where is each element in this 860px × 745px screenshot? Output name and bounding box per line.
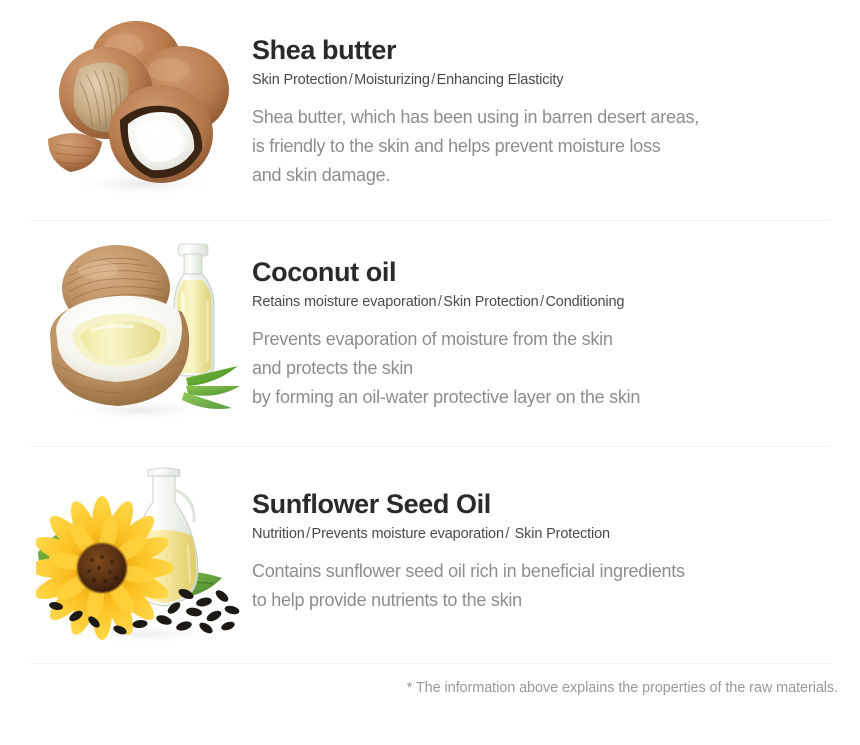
ingredient-section-sunflower-seed-oil: Sunflower Seed Oil Nutrition/Prevents mo… (0, 448, 860, 660)
tag-separator: / (504, 526, 511, 542)
ingredient-tag: Retains moisture evaporation (252, 294, 436, 310)
ingredient-copy-coconut-oil: Coconut oil Retains moisture evaporation… (252, 258, 848, 412)
ingredient-description: Contains sunflower seed oil rich in bene… (252, 557, 848, 615)
ingredient-tag: Skin Protection (252, 72, 347, 88)
ingredient-tags: Retains moisture evaporation/Skin Protec… (252, 294, 848, 311)
ingredient-tag: Skin Protection (443, 294, 538, 310)
description-line: Prevents evaporation of moisture from th… (252, 325, 848, 354)
ingredient-title: Sunflower Seed Oil (252, 490, 848, 519)
ingredient-section-coconut-oil: Coconut oil Retains moisture evaporation… (0, 222, 860, 440)
description-line: Shea butter, which has been using in bar… (252, 103, 848, 132)
ingredient-description: Prevents evaporation of moisture from th… (252, 325, 848, 412)
section-divider (30, 663, 830, 664)
ingredient-tags: Skin Protection/Moisturizing/Enhancing E… (252, 72, 848, 89)
ingredient-tag: Conditioning (545, 294, 624, 310)
ingredient-copy-sunflower-seed-oil: Sunflower Seed Oil Nutrition/Prevents mo… (252, 490, 848, 615)
ingredient-section-shea-butter: Shea butter Skin Protection/Moisturizing… (0, 0, 860, 218)
ingredient-title: Shea butter (252, 36, 848, 65)
ingredient-tags: Nutrition/Prevents moisture evaporation/… (252, 526, 848, 543)
ingredient-title: Coconut oil (252, 258, 848, 287)
ingredient-tag: Enhancing Elasticity (437, 72, 564, 88)
description-line: and skin damage. (252, 161, 848, 190)
section-divider (30, 220, 830, 221)
sunflower-oil-photo (36, 456, 244, 652)
ingredient-tag: Moisturizing (354, 72, 430, 88)
coconut-oil-photo (36, 230, 244, 426)
shea-nuts-photo (36, 8, 244, 204)
ingredient-description: Shea butter, which has been using in bar… (252, 103, 848, 190)
description-line: by forming an oil-water protective layer… (252, 383, 848, 412)
description-line: and protects the skin (252, 354, 848, 383)
footnote-disclaimer: * The information above explains the pro… (0, 680, 838, 696)
ingredient-copy-shea-butter: Shea butter Skin Protection/Moisturizing… (252, 36, 848, 190)
description-line: Contains sunflower seed oil rich in bene… (252, 557, 848, 586)
tag-separator: / (305, 526, 312, 542)
ingredient-info-page: Shea butter Skin Protection/Moisturizing… (0, 0, 860, 745)
description-line: to help provide nutrients to the skin (252, 586, 848, 615)
ingredient-tag: Prevents moisture evaporation (312, 526, 504, 542)
section-divider (30, 446, 830, 447)
tag-separator: / (430, 72, 437, 88)
description-line: is friendly to the skin and helps preven… (252, 132, 848, 161)
ingredient-tag: Nutrition (252, 526, 305, 542)
ingredient-tag: Skin Protection (515, 526, 610, 542)
